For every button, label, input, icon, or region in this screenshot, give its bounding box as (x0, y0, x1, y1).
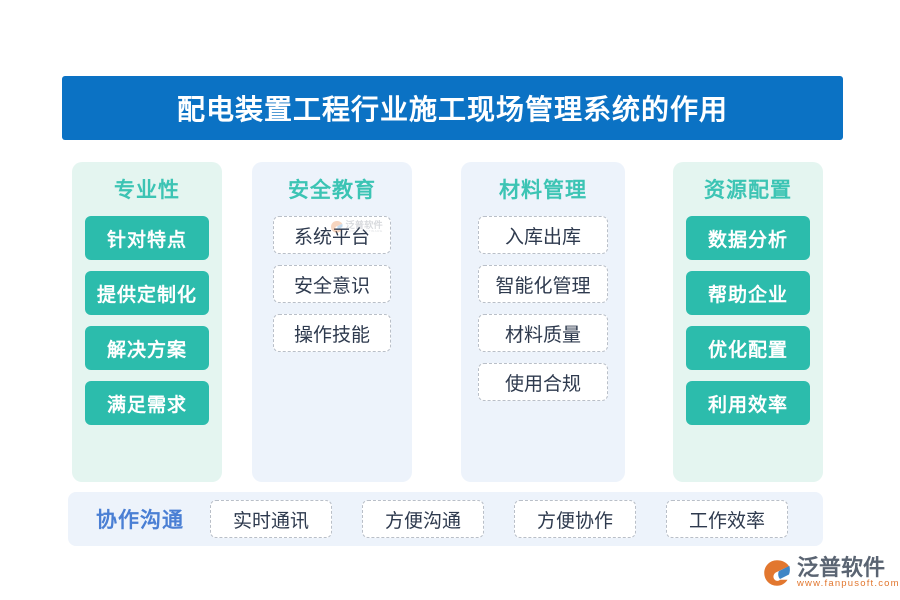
chip-item[interactable]: 提供定制化 (85, 271, 209, 315)
chip-item[interactable]: 实时通讯 (210, 500, 332, 538)
chip-item[interactable]: 优化配置 (686, 326, 810, 370)
brand-logo: 泛普软件 www.fanpusoft.com (762, 556, 900, 589)
collaboration-label: 协作沟通 (96, 504, 184, 534)
brand-logo-texts: 泛普软件 www.fanpusoft.com (797, 556, 900, 589)
chip-item[interactable]: 操作技能 (273, 314, 391, 352)
chip-item[interactable]: 方便协作 (514, 500, 636, 538)
chip-item[interactable]: 数据分析 (686, 216, 810, 260)
diagram-canvas: 配电装置工程行业施工现场管理系统的作用 专业性 针对特点 提供定制化 解决方案 … (0, 0, 900, 600)
chip-item[interactable]: 安全意识 (273, 265, 391, 303)
fanpu-swoosh-icon (762, 558, 792, 588)
column-heading: 材料管理 (461, 174, 625, 204)
category-column-safety-education: 安全教育 系统平台 安全意识 操作技能 (252, 162, 412, 482)
brand-name: 泛普软件 (797, 556, 900, 579)
page-title: 配电装置工程行业施工现场管理系统的作用 (177, 88, 728, 128)
brand-url: www.fanpusoft.com (797, 579, 900, 589)
chip-item[interactable]: 满足需求 (85, 381, 209, 425)
chip-item[interactable]: 帮助企业 (686, 271, 810, 315)
category-column-resource-allocation: 资源配置 数据分析 帮助企业 优化配置 利用效率 (673, 162, 823, 482)
chip-item[interactable]: 针对特点 (85, 216, 209, 260)
chip-item[interactable]: 使用合规 (478, 363, 608, 401)
chip-item[interactable]: 利用效率 (686, 381, 810, 425)
category-column-professionalism: 专业性 针对特点 提供定制化 解决方案 满足需求 (72, 162, 222, 482)
chip-item[interactable]: 系统平台 (273, 216, 391, 254)
column-items: 入库出库 智能化管理 材料质量 使用合规 (461, 216, 625, 401)
column-heading: 专业性 (72, 174, 222, 204)
collaboration-items: 实时通讯 方便沟通 方便协作 工作效率 (210, 500, 788, 538)
column-items: 数据分析 帮助企业 优化配置 利用效率 (673, 216, 823, 425)
column-heading: 安全教育 (252, 174, 412, 204)
diagram-title-banner: 配电装置工程行业施工现场管理系统的作用 (62, 76, 843, 140)
column-items: 针对特点 提供定制化 解决方案 满足需求 (72, 216, 222, 425)
chip-item[interactable]: 智能化管理 (478, 265, 608, 303)
chip-item[interactable]: 工作效率 (666, 500, 788, 538)
column-items: 系统平台 安全意识 操作技能 (252, 216, 412, 352)
column-heading: 资源配置 (673, 174, 823, 204)
chip-item[interactable]: 材料质量 (478, 314, 608, 352)
category-column-material-management: 材料管理 入库出库 智能化管理 材料质量 使用合规 (461, 162, 625, 482)
collaboration-bar: 协作沟通 实时通讯 方便沟通 方便协作 工作效率 (68, 492, 823, 546)
chip-item[interactable]: 方便沟通 (362, 500, 484, 538)
chip-item[interactable]: 解决方案 (85, 326, 209, 370)
chip-item[interactable]: 入库出库 (478, 216, 608, 254)
